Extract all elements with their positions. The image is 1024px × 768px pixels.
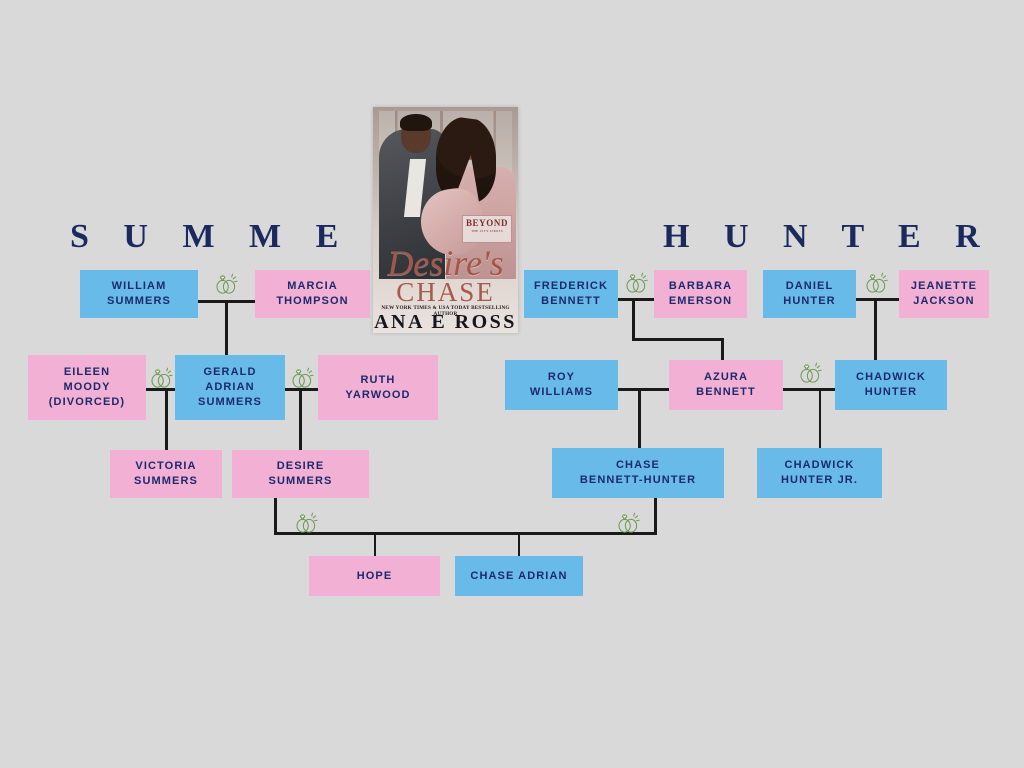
person-name-gerald_adrian_summers: GERALDADRIANSUMMERS bbox=[198, 365, 262, 410]
person-name-eileen_moody: EILEENMOODY(DIVORCED) bbox=[49, 365, 125, 410]
connector-eileen-gerald bbox=[146, 388, 175, 391]
wedding-rings-icon bbox=[211, 268, 241, 298]
connector-to-gerald bbox=[225, 300, 228, 355]
book-cover-man-hair bbox=[400, 114, 432, 131]
person-box-jeanette_jackson[interactable]: JEANETTEJACKSON bbox=[899, 270, 989, 318]
connector-desire-down bbox=[274, 498, 277, 534]
person-box-azura_bennett[interactable]: AZURABENNETT bbox=[669, 360, 783, 410]
series-badge-subtitle: THE CITY LIMITS bbox=[463, 229, 511, 234]
connector-frederick-elbow-h bbox=[632, 338, 724, 341]
person-name-desire_summers: DESIRESUMMERS bbox=[269, 459, 333, 489]
person-name-jeanette_jackson: JEANETTEJACKSON bbox=[911, 279, 977, 309]
person-name-marcia_thompson: MARCIATHOMPSON bbox=[276, 279, 348, 309]
person-name-chase_bennett_hunter: CHASEBENNETT-HUNTER bbox=[580, 458, 696, 488]
person-box-barbara_emerson[interactable]: BARBARAEMERSON bbox=[654, 270, 747, 318]
book-title-line-2: CHASE bbox=[373, 279, 518, 306]
person-box-chase_adrian[interactable]: CHASE ADRIAN bbox=[455, 556, 583, 596]
person-box-chase_bennett_hunter[interactable]: CHASEBENNETT-HUNTER bbox=[552, 448, 724, 498]
person-name-barbara_emerson: BARBARAEMERSON bbox=[669, 279, 732, 309]
wedding-rings-icon bbox=[795, 357, 825, 387]
person-name-ruth_yarwood: RUTHYARWOOD bbox=[345, 373, 410, 403]
connector-to-chadwick-hunter bbox=[874, 298, 877, 360]
person-box-william_summers[interactable]: WILLIAMSUMMERS bbox=[80, 270, 198, 318]
connector-chasebh-down bbox=[654, 498, 657, 534]
person-name-chadwick_hunter_jr: CHADWICKHUNTER JR. bbox=[781, 458, 858, 488]
person-box-marcia_thompson[interactable]: MARCIATHOMPSON bbox=[255, 270, 370, 318]
connector-frederick-barbara bbox=[618, 298, 654, 301]
person-name-william_summers: WILLIAMSUMMERS bbox=[107, 279, 171, 309]
person-name-daniel_hunter: DANIELHUNTER bbox=[783, 279, 835, 309]
person-box-daniel_hunter[interactable]: DANIELHUNTER bbox=[763, 270, 856, 318]
connector-to-hope bbox=[374, 532, 376, 558]
person-box-victoria_summers[interactable]: VICTORIASUMMERS bbox=[110, 450, 222, 498]
person-name-frederick_bennett: FREDERICKBENNETT bbox=[534, 279, 608, 309]
person-box-gerald_adrian_summers[interactable]: GERALDADRIANSUMMERS bbox=[175, 355, 285, 420]
book-author-name: ANA E ROSS bbox=[373, 311, 518, 333]
connector-daniel-jeanette bbox=[856, 298, 899, 301]
book-cover-series-badge: BEYOND THE CITY LIMITS bbox=[462, 215, 512, 243]
connector-azura-chadwick bbox=[783, 388, 835, 391]
person-box-desire_summers[interactable]: DESIRESUMMERS bbox=[232, 450, 369, 498]
series-badge-title: BEYOND bbox=[463, 217, 511, 229]
person-name-chase_adrian: CHASE ADRIAN bbox=[470, 569, 567, 584]
family-title-hunter: H U N T E R bbox=[663, 218, 993, 256]
person-box-chadwick_hunter_jr[interactable]: CHADWICKHUNTER JR. bbox=[757, 448, 882, 498]
connector-to-chadwick-jr bbox=[819, 388, 821, 448]
family-tree-canvas: S U M M E R S H U N T E R WILLIAMSUMMERS… bbox=[0, 0, 1024, 768]
connector-to-desire bbox=[299, 388, 302, 450]
person-box-chadwick_hunter[interactable]: CHADWICKHUNTER bbox=[835, 360, 947, 410]
book-cover-image: BEYOND THE CITY LIMITS Desire's CHASE NE… bbox=[373, 107, 518, 333]
connector-frederick-elbow-v1 bbox=[632, 298, 635, 340]
person-name-roy_williams: ROYWILLIAMS bbox=[530, 370, 593, 400]
wedding-rings-icon bbox=[861, 267, 891, 297]
person-name-azura_bennett: AZURABENNETT bbox=[696, 370, 756, 400]
connector-to-chase-bennett-hunter bbox=[638, 388, 641, 448]
connector-frederick-elbow-v2 bbox=[721, 338, 724, 360]
wedding-rings-icon bbox=[621, 267, 651, 297]
connector-to-chase-adrian bbox=[518, 532, 520, 558]
person-box-eileen_moody[interactable]: EILEENMOODY(DIVORCED) bbox=[28, 355, 146, 420]
person-name-hope: HOPE bbox=[357, 569, 393, 584]
person-name-victoria_summers: VICTORIASUMMERS bbox=[134, 459, 198, 489]
person-name-chadwick_hunter: CHADWICKHUNTER bbox=[856, 370, 926, 400]
book-title-line-1: Desire's bbox=[373, 245, 518, 281]
person-box-hope[interactable]: HOPE bbox=[309, 556, 440, 596]
person-box-ruth_yarwood[interactable]: RUTHYARWOOD bbox=[318, 355, 438, 420]
connector-roy-azura bbox=[618, 388, 669, 391]
person-box-frederick_bennett[interactable]: FREDERICKBENNETT bbox=[524, 270, 618, 318]
connector-desire-chase-bar bbox=[274, 532, 657, 535]
connector-to-victoria bbox=[165, 388, 168, 450]
person-box-roy_williams[interactable]: ROYWILLIAMS bbox=[505, 360, 618, 410]
